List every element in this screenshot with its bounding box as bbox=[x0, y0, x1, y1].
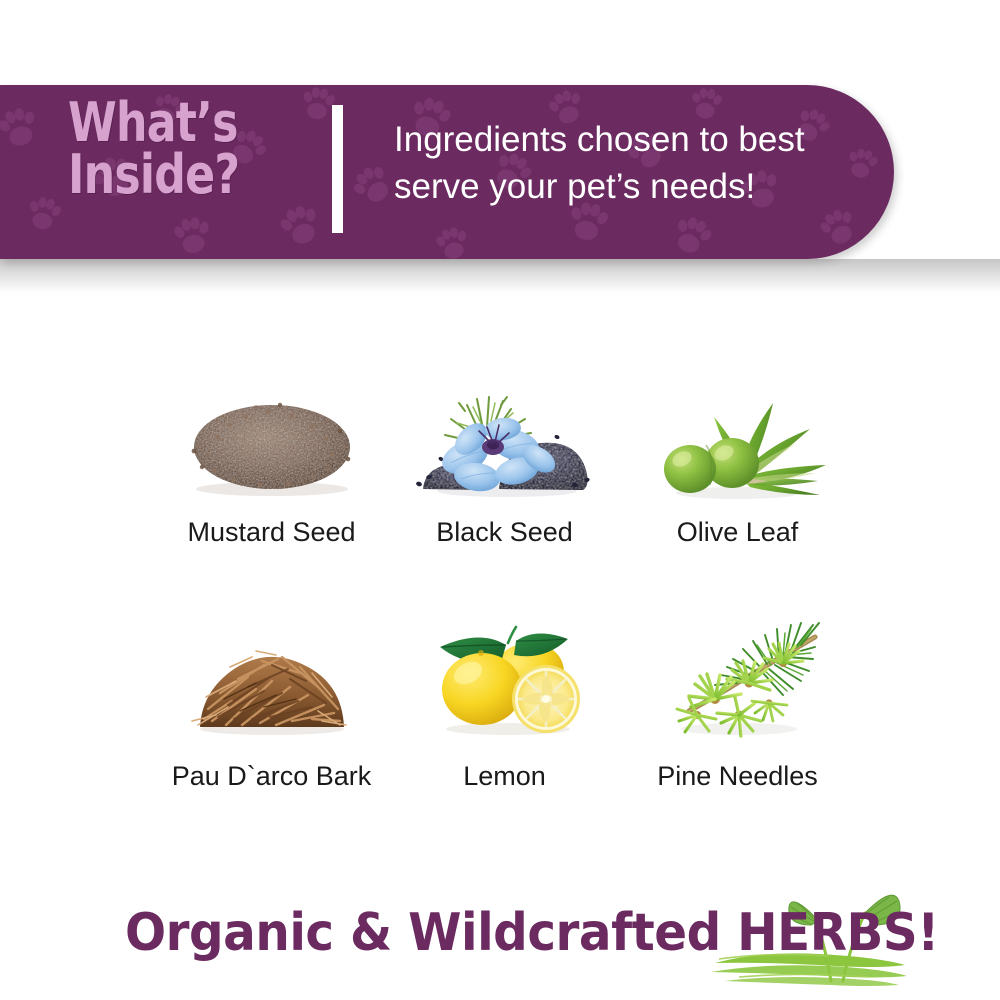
ingredient-label: Pine Needles bbox=[657, 761, 818, 792]
ingredient-label: Olive Leaf bbox=[677, 517, 799, 548]
banner-subtitle-line-2: serve your pet’s needs! bbox=[394, 164, 874, 211]
footer: Organic & Wildcrafted HERBS! bbox=[0, 895, 1000, 995]
ingredient-grid: Mustard Seed bbox=[155, 378, 855, 792]
banner-subtitle-line-1: Ingredients chosen to best bbox=[394, 117, 874, 164]
ingredient-item-olive-leaf: Olive Leaf bbox=[621, 378, 854, 548]
ingredient-label: Black Seed bbox=[436, 517, 573, 548]
ingredient-item-pau-darco-bark: Pau D`arco Bark bbox=[155, 614, 388, 792]
green-olives-with-leaves-image bbox=[635, 378, 840, 503]
ingredient-label: Lemon bbox=[463, 761, 546, 792]
banner-drop-shadow bbox=[0, 259, 1000, 293]
pine-needle-branch-image bbox=[635, 614, 840, 739]
banner-title-line-1: What’s bbox=[68, 97, 273, 149]
green-grass-brushstroke bbox=[709, 947, 909, 991]
banner-background: What’s Inside? Ingredients chosen to bes… bbox=[0, 85, 894, 259]
mustard-seed-pile-image bbox=[169, 378, 374, 503]
header-banner: What’s Inside? Ingredients chosen to bes… bbox=[0, 85, 894, 259]
ingredient-label: Pau D`arco Bark bbox=[172, 761, 372, 792]
ingredient-item-mustard-seed: Mustard Seed bbox=[155, 378, 388, 548]
lemons-whole-and-halved-image bbox=[402, 614, 607, 739]
banner-subtitle: Ingredients chosen to best serve your pe… bbox=[394, 117, 874, 210]
ingredient-item-pine-needles: Pine Needles bbox=[621, 614, 854, 792]
ingredient-item-lemon: Lemon bbox=[388, 614, 621, 792]
ingredient-label: Mustard Seed bbox=[187, 517, 355, 548]
banner-title: What’s Inside? bbox=[68, 97, 273, 202]
banner-title-line-2: Inside? bbox=[68, 149, 273, 201]
shredded-bark-pile-image bbox=[169, 614, 374, 739]
ingredient-row-2: Pau D`arco Bark bbox=[155, 614, 855, 792]
black-seed-nigella-flower-image bbox=[402, 378, 607, 503]
banner-divider-rule bbox=[332, 105, 343, 233]
ingredient-item-black-seed: Black Seed bbox=[388, 378, 621, 548]
ingredient-row-1: Mustard Seed bbox=[155, 378, 855, 548]
